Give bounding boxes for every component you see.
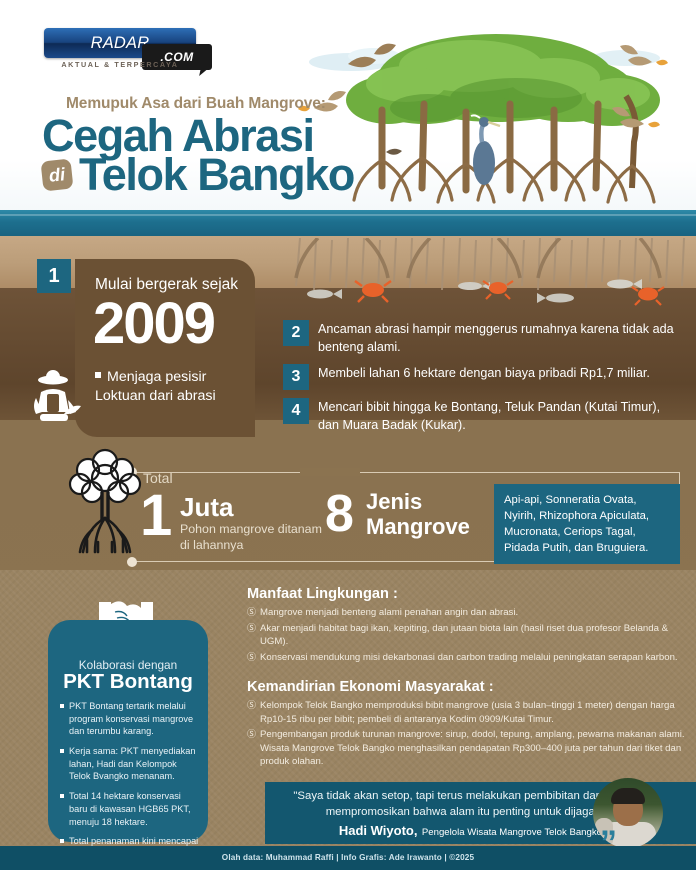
check-circle-icon: Ⓢ bbox=[247, 728, 256, 741]
step-1-bullet-text: Menjaga pesisir Loktuan dari abrasi bbox=[95, 369, 216, 404]
environment-point: ⓈMangrove menjadi benteng alami penahan … bbox=[247, 606, 691, 620]
bracket-dot-bottom bbox=[127, 557, 137, 567]
step-4-text: Mencari bibit hingga ke Bontang, Teluk P… bbox=[318, 398, 683, 435]
economy-point-text: Pengembangan produk turunan mangrove: si… bbox=[260, 729, 685, 767]
check-circle-icon: Ⓢ bbox=[247, 606, 256, 619]
logo-tagline: AKTUAL & TERPERCAYA bbox=[44, 60, 196, 69]
economy-point: ⓈKelompok Telok Bangko memproduksi bibit… bbox=[247, 699, 691, 726]
quote-attribution: Hadi Wiyoto, Pengelola Wisata Mangrove T… bbox=[282, 822, 602, 840]
pkt-title: PKT Bontang bbox=[48, 670, 208, 694]
pkt-point: Kerja sama: PKT menyediakan lahan, Hadi … bbox=[60, 745, 200, 783]
species-count-value: 8 bbox=[325, 488, 353, 540]
fish-icon bbox=[307, 289, 342, 299]
pkt-points-list: PKT Bontang tertarik melalui program kon… bbox=[60, 700, 200, 868]
footer-bar: Olah data: Muhammad Raffi | Info Grafis:… bbox=[0, 846, 696, 870]
footer-credit: Olah data: Muhammad Raffi | Info Grafis:… bbox=[0, 846, 696, 870]
crab-icon bbox=[355, 281, 391, 302]
crab-icon bbox=[632, 287, 664, 305]
step-3-text: Membeli lahan 6 hektare dengan biaya pri… bbox=[318, 364, 650, 390]
infographic-page: RADARBONTANG .COM AKTUAL & TERPERCAYA Me… bbox=[0, 0, 696, 870]
step-1-number: 1 bbox=[37, 259, 71, 293]
heron-icon bbox=[471, 115, 500, 185]
fish-icon bbox=[537, 293, 574, 303]
step-2: 2 Ancaman abrasi hampir menggerus rumahn… bbox=[283, 320, 683, 357]
step-1-bullet: Menjaga pesisir Loktuan dari abrasi bbox=[95, 368, 255, 405]
hero-title-line2-row: di Telok Bangko bbox=[42, 152, 354, 197]
step-4: 4 Mencari bibit hingga ke Bontang, Teluk… bbox=[283, 398, 683, 435]
step-2-text: Ancaman abrasi hampir menggerus rumahnya… bbox=[318, 320, 683, 357]
check-circle-icon: Ⓢ bbox=[247, 699, 256, 712]
hero-title-line2: Telok Bangko bbox=[79, 152, 354, 197]
quote-role: Pengelola Wisata Mangrove Telok Bangko bbox=[422, 827, 602, 838]
step-3-number: 3 bbox=[283, 364, 309, 390]
step-4-number: 4 bbox=[283, 398, 309, 424]
environment-point-text: Mangrove menjadi benteng alami penahan a… bbox=[260, 607, 518, 618]
farmer-icon bbox=[28, 368, 86, 426]
species-unit-line1: Jenis bbox=[366, 489, 422, 514]
bullet-square-icon bbox=[95, 372, 101, 378]
check-circle-icon: Ⓢ bbox=[247, 622, 256, 635]
step-2-number: 2 bbox=[283, 320, 309, 346]
crab-icon bbox=[483, 281, 513, 299]
total-trees-unit: Juta bbox=[180, 492, 233, 523]
environment-heading: Manfaat Lingkungan : bbox=[247, 586, 398, 602]
species-count-unit: Jenis Mangrove bbox=[366, 490, 470, 539]
environment-list: ⓈMangrove menjadi benteng alami penahan … bbox=[247, 606, 691, 666]
fish-icon bbox=[607, 279, 642, 289]
species-list-box: Api-api, Sonneratia Ovata, Nyirih, Rhizo… bbox=[494, 484, 680, 564]
environment-point: ⓈAkar menjadi habitat bagi ikan, kepitin… bbox=[247, 622, 691, 649]
environment-point: ⓈKonservasi mendukung misi dekarbonasi d… bbox=[247, 651, 691, 665]
quote-text: "Saya tidak akan setop, tapi terus melak… bbox=[282, 789, 602, 821]
hero-section: RADARBONTANG .COM AKTUAL & TERPERCAYA Me… bbox=[0, 0, 696, 222]
environment-point-text: Akar menjadi habitat bagi ikan, kepiting… bbox=[260, 623, 668, 648]
check-circle-icon: Ⓢ bbox=[247, 651, 256, 664]
site-logo[interactable]: RADARBONTANG .COM AKTUAL & TERPERCAYA bbox=[44, 28, 212, 72]
avatar-hair bbox=[611, 788, 645, 804]
total-trees-sub: Pohon mangrove ditanam di lahannya bbox=[180, 521, 330, 553]
economy-heading: Kemandirian Ekonomi Masyarakat : bbox=[247, 679, 494, 695]
quote-author: Hadi Wiyoto, bbox=[339, 823, 418, 838]
pkt-point: PKT Bontang tertarik melalui program kon… bbox=[60, 700, 200, 738]
economy-point: ⓈPengembangan produk turunan mangrove: s… bbox=[247, 728, 691, 769]
economy-list: ⓈKelompok Telok Bangko memproduksi bibit… bbox=[247, 699, 691, 771]
environment-point-text: Konservasi mendukung misi dekarbonasi da… bbox=[260, 652, 678, 663]
total-trees-value: 1 bbox=[140, 487, 170, 545]
economy-point-text: Kelompok Telok Bangko memproduksi bibit … bbox=[260, 700, 675, 725]
pkt-point: Total 14 hektare konservasi baru di kawa… bbox=[60, 790, 200, 828]
mangrove-tree-icon bbox=[58, 448, 152, 558]
step-3: 3 Membeli lahan 6 hektare dengan biaya p… bbox=[283, 364, 683, 390]
bracket-gap-mask bbox=[300, 468, 360, 476]
step-1-year: 2009 bbox=[93, 295, 214, 353]
di-badge: di bbox=[41, 158, 74, 191]
species-unit-line2: Mangrove bbox=[366, 514, 470, 539]
